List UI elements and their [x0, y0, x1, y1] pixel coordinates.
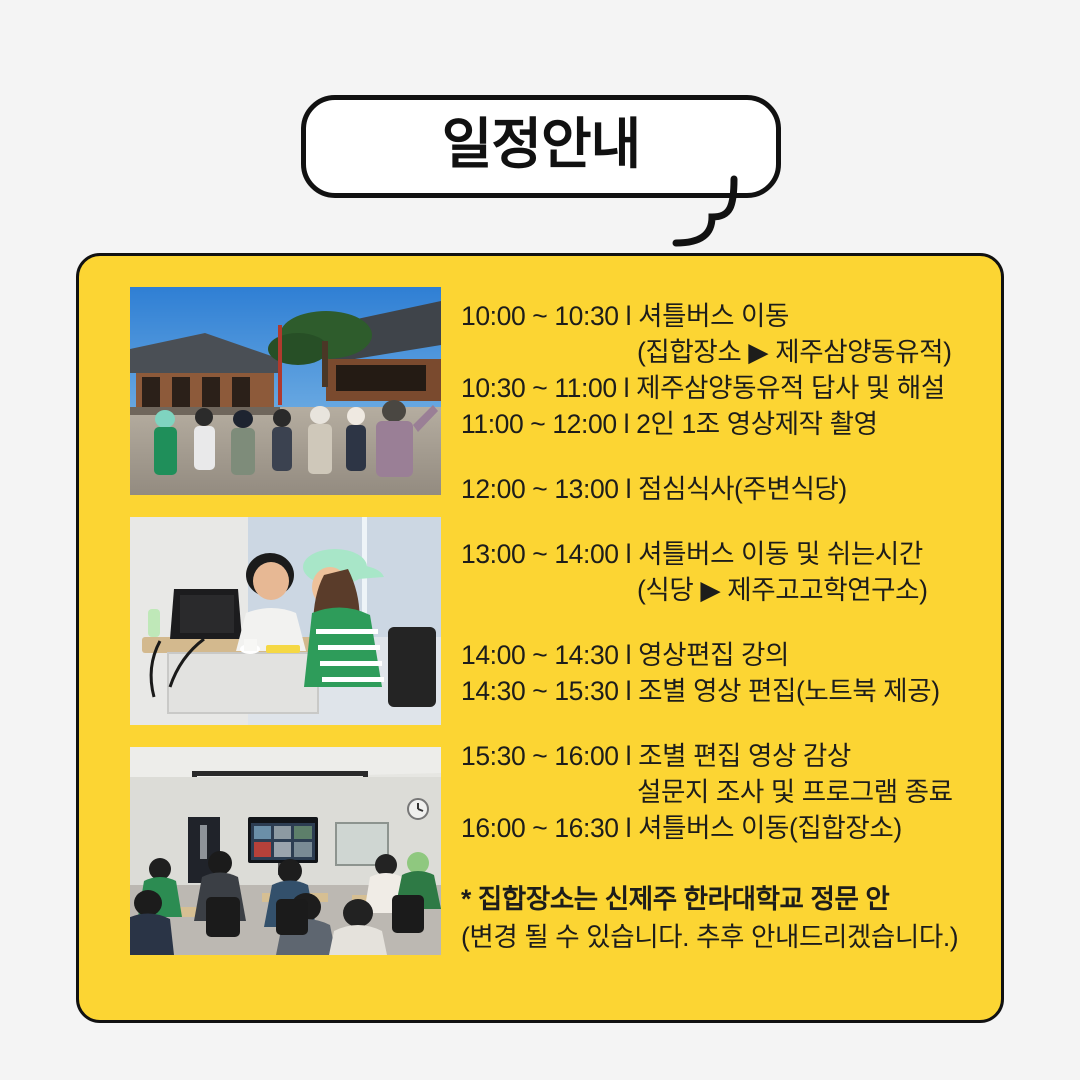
schedule-time: 13:00 ~ 14:00: [461, 536, 619, 572]
schedule-description: 조별 편집 영상 감상: [638, 741, 851, 771]
title-bubble-body: 일정안내: [301, 95, 781, 198]
footnote-meeting-point: * 집합장소는 신제주 한라대학교 정문 안: [461, 880, 1001, 918]
schedule-separator: l: [619, 738, 639, 774]
schedule-line: 12:00 ~ 13:00l점심식사(주변식당): [461, 471, 1001, 507]
schedule-line: 11:00 ~ 12:00l2인 1조 영상제작 촬영: [461, 406, 1001, 442]
schedule-separator: l: [619, 637, 639, 673]
schedule-description: (식당 ▶ 제주고고학연구소): [637, 575, 928, 605]
schedule-description: 조별 영상 편집(노트북 제공): [638, 676, 940, 706]
schedule-line: (집합장소 ▶ 제주삼양동유적): [461, 334, 1001, 370]
schedule-description: 셔틀버스 이동(집합장소): [638, 813, 902, 843]
schedule-time: 15:30 ~ 16:00: [461, 738, 619, 774]
schedule-group: 15:30 ~ 16:00l조별 편집 영상 감상 설문지 조사 및 프로그램 …: [461, 738, 1001, 846]
schedule-description: 제주삼양동유적 답사 및 해설: [636, 373, 945, 403]
schedule-line: 14:30 ~ 15:30l조별 영상 편집(노트북 제공): [461, 673, 1001, 709]
schedule-line: 14:00 ~ 14:30l영상편집 강의: [461, 637, 1001, 673]
schedule-separator: l: [617, 370, 637, 406]
schedule-separator: l: [617, 406, 637, 442]
schedule-description: (집합장소 ▶ 제주삼양동유적): [637, 337, 952, 367]
schedule-text-column: 10:00 ~ 10:30l셔틀버스 이동 (집합장소 ▶ 제주삼양동유적) 1…: [441, 256, 1001, 1020]
schedule-group: 12:00 ~ 13:00l점심식사(주변식당): [461, 471, 1001, 507]
schedule-description: 설문지 조사 및 프로그램 종료: [637, 777, 953, 807]
schedule-description: 영상편집 강의: [638, 640, 789, 670]
schedule-group: 14:00 ~ 14:30l영상편집 강의 14:30 ~ 15:30l조별 영…: [461, 637, 1001, 709]
schedule-separator: l: [619, 471, 639, 507]
schedule-description: 셔틀버스 이동: [638, 301, 789, 331]
photo-column: [79, 256, 441, 1020]
schedule-separator: l: [619, 673, 639, 709]
schedule-line: 15:30 ~ 16:00l조별 편집 영상 감상: [461, 738, 1001, 774]
schedule-group: 13:00 ~ 14:00l셔틀버스 이동 및 쉬는시간 (식당 ▶ 제주고고학…: [461, 536, 1001, 608]
schedule-time: 14:30 ~ 15:30: [461, 673, 619, 709]
schedule-line: 10:00 ~ 10:30l셔틀버스 이동: [461, 298, 1001, 334]
schedule-description: 2인 1조 영상제작 촬영: [636, 409, 877, 439]
schedule-group: 10:00 ~ 10:30l셔틀버스 이동 (집합장소 ▶ 제주삼양동유적) 1…: [461, 298, 1001, 442]
schedule-separator: l: [619, 810, 639, 846]
footnote-disclaimer: (변경 될 수 있습니다. 추후 안내드리겠습니다.): [461, 918, 1001, 956]
schedule-time: 16:00 ~ 16:30: [461, 810, 619, 846]
schedule-time: 10:30 ~ 11:00: [461, 370, 617, 406]
title-speech-bubble: 일정안내: [301, 95, 781, 198]
schedule-line: 13:00 ~ 14:00l셔틀버스 이동 및 쉬는시간: [461, 536, 1001, 572]
photo-screening-room: [130, 747, 441, 955]
schedule-line: (식당 ▶ 제주고고학연구소): [461, 572, 1001, 608]
schedule-line: 16:00 ~ 16:30l셔틀버스 이동(집합장소): [461, 810, 1001, 846]
footnote: * 집합장소는 신제주 한라대학교 정문 안 (변경 될 수 있습니다. 추후 …: [461, 880, 1001, 956]
schedule-separator: l: [619, 536, 639, 572]
page-title: 일정안내: [442, 117, 640, 172]
schedule-description: 점심식사(주변식당): [638, 474, 847, 504]
schedule-description: 셔틀버스 이동 및 쉬는시간: [638, 539, 923, 569]
schedule-time: 12:00 ~ 13:00: [461, 471, 619, 507]
photo-field-trip: [130, 287, 441, 495]
schedule-time: 10:00 ~ 10:30: [461, 298, 619, 334]
schedule-separator: l: [619, 298, 639, 334]
schedule-card: 10:00 ~ 10:30l셔틀버스 이동 (집합장소 ▶ 제주삼양동유적) 1…: [76, 253, 1004, 1023]
schedule-line: 10:30 ~ 11:00l제주삼양동유적 답사 및 해설: [461, 370, 1001, 406]
photo-video-editing: [130, 517, 441, 725]
schedule-time: 14:00 ~ 14:30: [461, 637, 619, 673]
schedule-line: 설문지 조사 및 프로그램 종료: [461, 774, 1001, 810]
schedule-time: 11:00 ~ 12:00: [461, 406, 617, 442]
